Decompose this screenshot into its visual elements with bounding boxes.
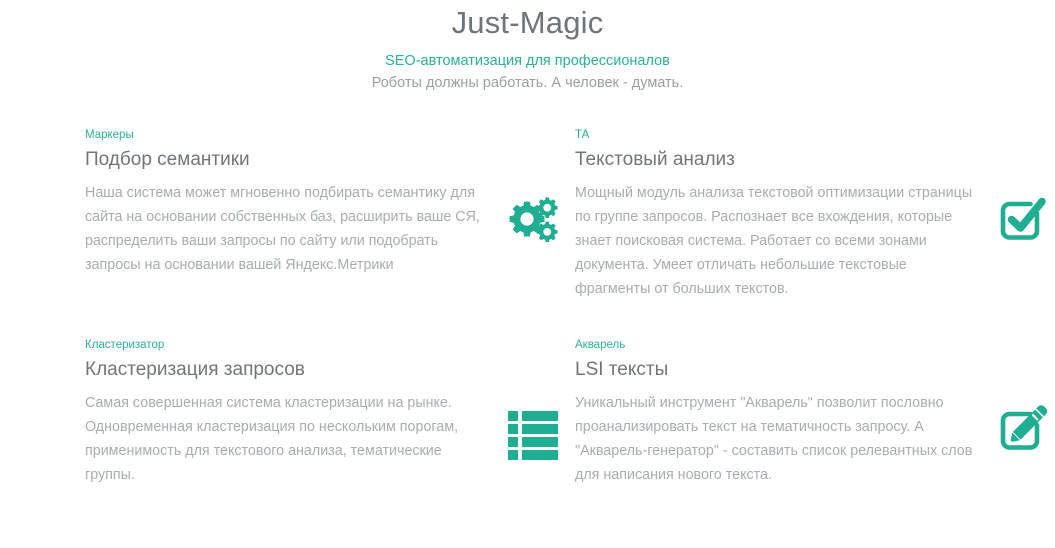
card-description: Мощный модуль анализа текстовой оптимиза… <box>575 181 981 301</box>
brand-subtagline: Роботы должны работать. А человек - дума… <box>0 73 1055 94</box>
checkbox-check-icon <box>991 189 1055 253</box>
card-title: LSI тексты <box>575 357 1055 383</box>
card-eyebrow-label: ТА <box>575 128 1055 142</box>
card-description: Наша система может мгновенно подбирать с… <box>85 181 491 277</box>
edit-pencil-icon <box>991 399 1055 463</box>
feature-card-lsi-texts[interactable]: Акварель LSI тексты Уникальный инструмен… <box>575 338 1055 548</box>
gears-icon <box>501 189 565 253</box>
card-body: Уникальный инструмент "Акварель" позволи… <box>575 391 1055 487</box>
feature-cards-grid: Маркеры Подбор семантики Наша система мо… <box>0 128 1055 548</box>
card-description: Самая совершенная система кластеризации … <box>85 391 491 487</box>
card-body: Наша система может мгновенно подбирать с… <box>85 181 565 277</box>
card-eyebrow-label: Акварель <box>575 338 1055 352</box>
feature-card-semantics[interactable]: Маркеры Подбор семантики Наша система мо… <box>85 128 575 338</box>
page-title: Just-Magic <box>0 4 1055 42</box>
feature-card-text-analysis[interactable]: ТА Текстовый анализ Мощный модуль анализ… <box>575 128 1055 338</box>
card-title: Подбор семантики <box>85 147 565 173</box>
feature-card-clustering[interactable]: Кластеризатор Кластеризация запросов Сам… <box>85 338 575 548</box>
card-title: Текстовый анализ <box>575 147 1055 173</box>
card-body: Мощный модуль анализа текстовой оптимиза… <box>575 181 1055 301</box>
card-description: Уникальный инструмент "Акварель" позволи… <box>575 391 981 487</box>
landing-page: Just-Magic SEO-автоматизация для професс… <box>0 0 1055 534</box>
card-body: Самая совершенная система кластеризации … <box>85 391 565 487</box>
list-icon <box>501 399 565 463</box>
card-eyebrow-label: Маркеры <box>85 128 565 142</box>
card-eyebrow-label: Кластеризатор <box>85 338 565 352</box>
brand-tagline: SEO-автоматизация для профессионалов <box>0 50 1055 72</box>
page-header: Just-Magic SEO-автоматизация для професс… <box>0 0 1055 94</box>
card-title: Кластеризация запросов <box>85 357 565 383</box>
